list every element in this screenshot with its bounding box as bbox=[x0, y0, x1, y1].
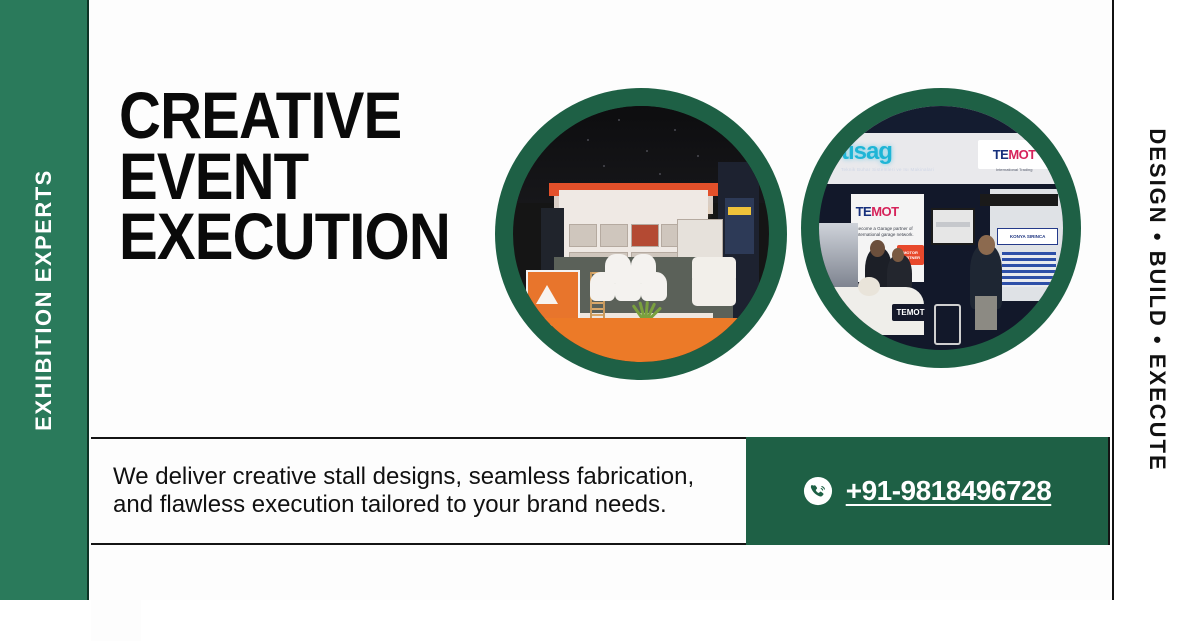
bottom-bar: We deliver creative stall designs, seaml… bbox=[91, 437, 1110, 600]
booth-sign-tisag: tisag bbox=[841, 138, 892, 166]
phone-number[interactable]: +91-9818496728 bbox=[846, 475, 1052, 507]
photo-exhibition-stall-interior bbox=[495, 88, 787, 380]
phone-call-icon bbox=[803, 476, 833, 506]
main-stage: CREATIVE EVENT EXECUTION bbox=[91, 0, 1110, 437]
right-rail-label: DESIGN • BUILD • EXECUTE bbox=[1144, 128, 1170, 471]
booth-sign-konya: KONYA SIRINCA bbox=[997, 228, 1058, 245]
booth-panel-text: Become a Garage partner of international… bbox=[856, 226, 919, 240]
right-white-rail: DESIGN • BUILD • EXECUTE bbox=[1112, 0, 1200, 600]
poster-canvas: EXHIBITION EXPERTS CREATIVE EVENT EXECUT… bbox=[0, 0, 1200, 600]
tagline-box: We deliver creative stall designs, seaml… bbox=[91, 437, 746, 545]
page-title: CREATIVE EVENT EXECUTION bbox=[119, 85, 450, 267]
checkerboard-top-right-icon bbox=[1129, 16, 1179, 66]
booth-sign-temot-sub: International Trading bbox=[978, 167, 1051, 172]
headline-line-3: EXECUTION bbox=[119, 206, 450, 267]
checkerboard-top-left-icon bbox=[18, 18, 68, 68]
photo-tisag-temot-booth: tisag Teknik Buhar Sistemleri ve Isı Mak… bbox=[801, 88, 1081, 368]
headline-line-1: CREATIVE bbox=[119, 85, 450, 146]
booth-sign-temot: TEMOT bbox=[978, 140, 1051, 169]
booth-panel-headline: TEMOT bbox=[856, 204, 899, 219]
tagline-text: We deliver creative stall designs, seaml… bbox=[91, 463, 746, 519]
left-rail-label: EXHIBITION EXPERTS bbox=[31, 169, 57, 431]
headline-line-2: EVENT bbox=[119, 146, 450, 207]
left-green-rail: EXHIBITION EXPERTS bbox=[0, 0, 89, 600]
booth-counter-logo: TEMOT bbox=[892, 304, 929, 321]
booth-sign-tisag-sub: Teknik Buhar Sistemleri ve Isı Makinalar… bbox=[841, 167, 934, 172]
contact-phone-box[interactable]: +91-9818496728 bbox=[746, 437, 1110, 545]
